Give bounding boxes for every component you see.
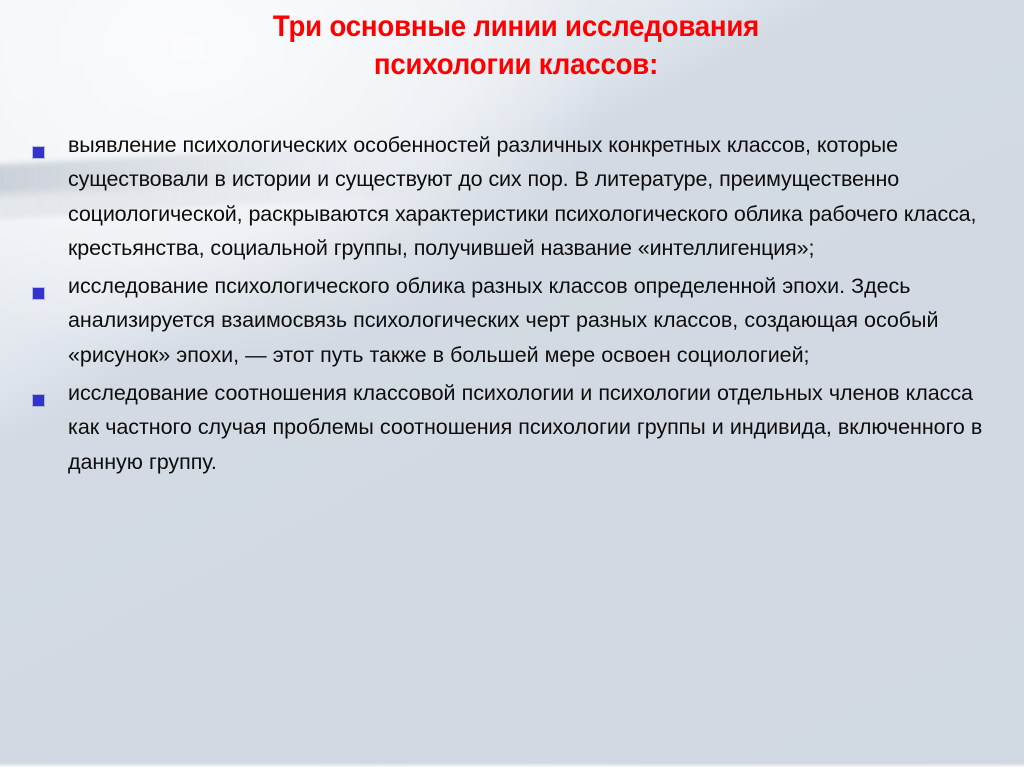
- background-bottom-edge: [0, 763, 1024, 767]
- list-item-bullet-1: выявление психологических особенностей р…: [0, 128, 1024, 265]
- slide-body-bullet-list: выявление психологических особенностей р…: [0, 128, 1024, 483]
- list-item-bullet-2: исследование психологического облика раз…: [0, 269, 1024, 372]
- square-bullet-icon: [33, 288, 44, 299]
- list-item-bullet-3: исследование соотношения классовой психо…: [0, 376, 1024, 479]
- slide-title-line-2: психологии классов:: [130, 46, 903, 84]
- presentation-slide: Три основные линии исследования психолог…: [0, 0, 1024, 767]
- list-item-text: исследование соотношения классовой психо…: [68, 376, 1006, 479]
- slide-title-line-1: Три основные линии исследования: [130, 8, 903, 46]
- list-item-text: выявление психологических особенностей р…: [68, 128, 1006, 265]
- square-bullet-icon: [33, 147, 44, 158]
- slide-title: Три основные линии исследования психолог…: [96, 8, 936, 84]
- square-bullet-icon: [33, 395, 44, 406]
- list-item-text: исследование психологического облика раз…: [68, 269, 1006, 372]
